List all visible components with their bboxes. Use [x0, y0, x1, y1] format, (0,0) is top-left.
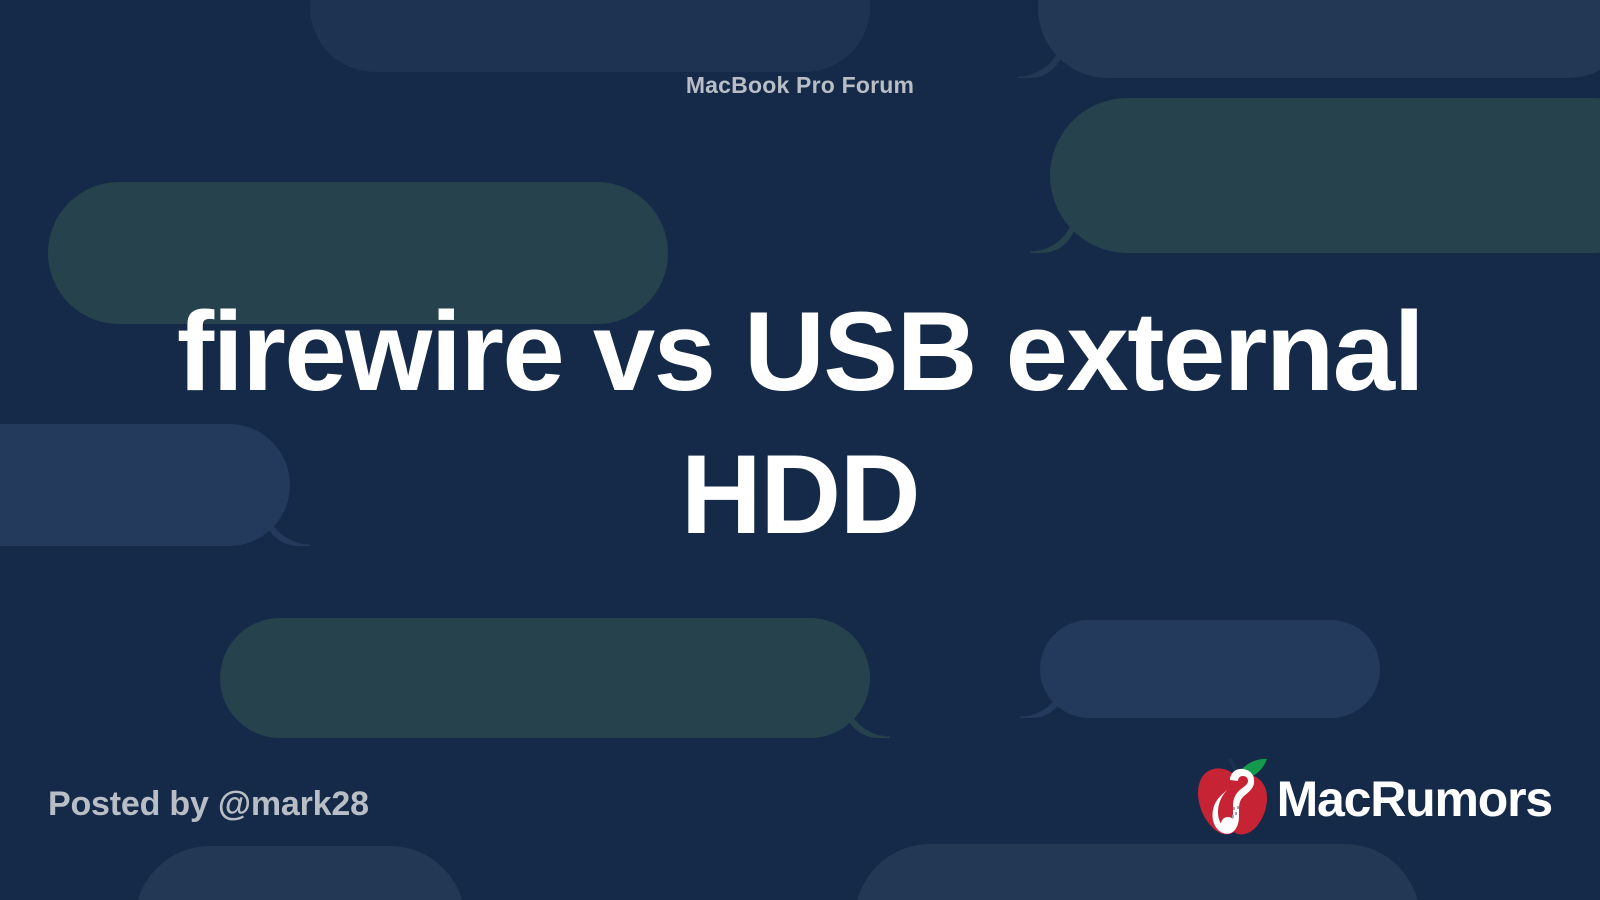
forum-share-card: MacBook Pro Forum firewire vs USB extern… — [0, 0, 1600, 900]
bubble-bottom-right — [855, 844, 1420, 900]
bubble-lower-left-teal — [220, 618, 870, 738]
brand-lockup: MacRumors — [1197, 752, 1552, 838]
page-title: firewire vs USB external HDD — [120, 280, 1480, 567]
bubble-bottom-left — [135, 846, 465, 900]
bubble-top-center — [310, 0, 870, 72]
thread-title: firewire vs USB external HDD — [120, 280, 1480, 567]
brand-wordmark: MacRumors — [1277, 774, 1552, 824]
bubble-top-right — [1038, 0, 1600, 78]
macrumors-apple-question-icon — [1197, 752, 1271, 838]
bubble-upper-right-teal — [1050, 98, 1600, 253]
forum-label: MacBook Pro Forum — [0, 72, 1600, 99]
bubble-lower-right — [1040, 620, 1380, 718]
posted-by-label: Posted by @mark28 — [48, 785, 369, 824]
